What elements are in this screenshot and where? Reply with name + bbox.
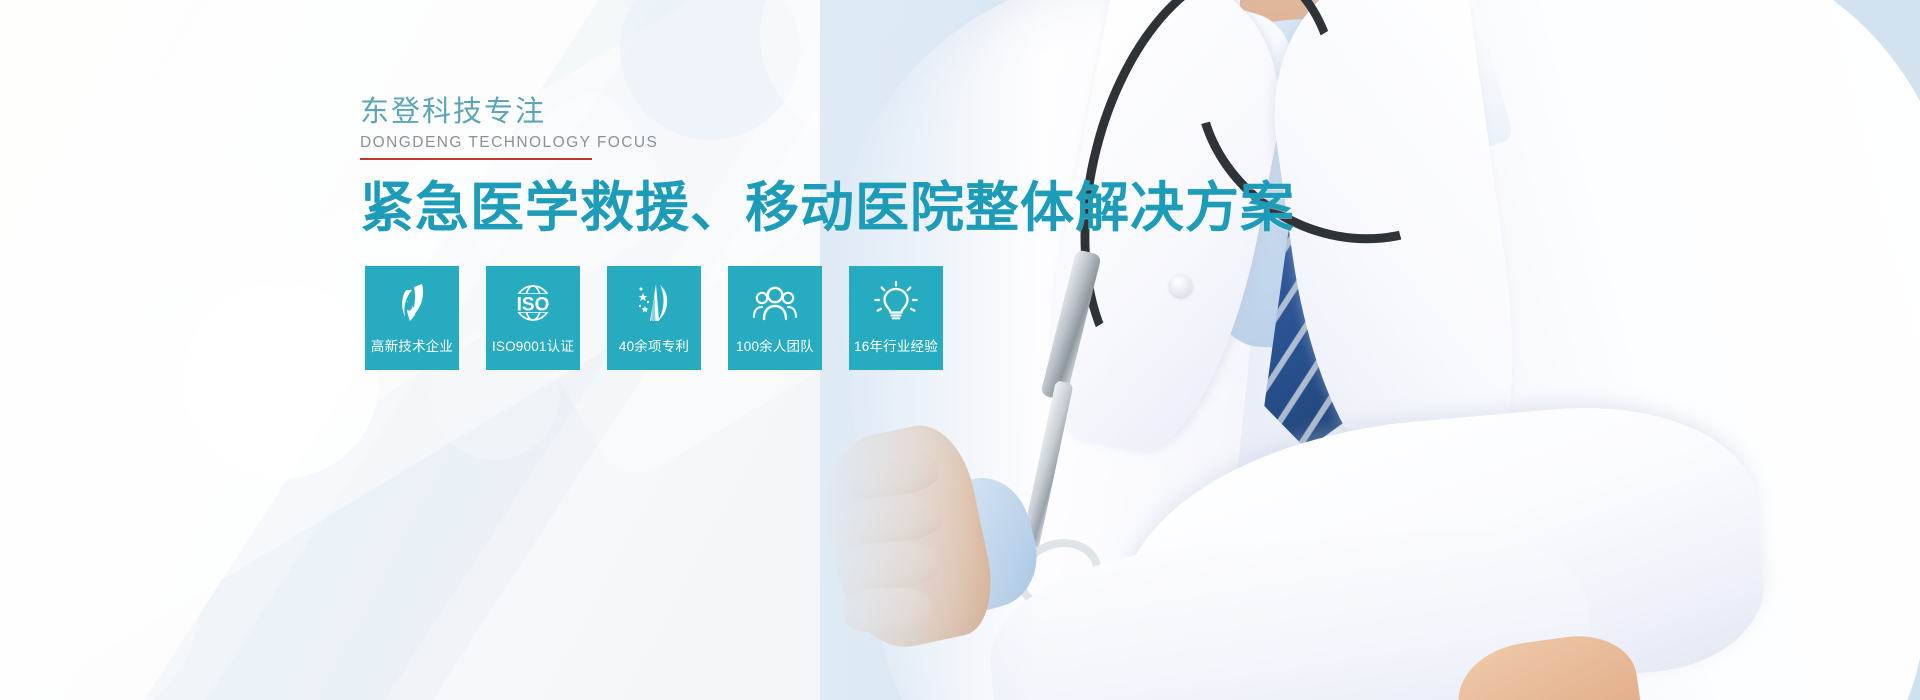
hero-headline: 紧急医学救援、移动医院整体解决方案 [360,178,1295,238]
badge-team-size[interactable]: 100余人团队 [728,266,822,370]
badge-label: 高新技术企业 [371,335,453,355]
eyebrow-chinese: 东登科技专注 [360,96,1295,129]
high-tech-wing-icon [392,280,432,326]
svg-text:ISO: ISO [517,295,550,316]
badge-label: 100余人团队 [736,335,814,355]
red-divider-rule [360,158,592,160]
badge-label: 40余项专利 [619,335,689,355]
lightbulb-icon [874,280,918,326]
hero-banner: 东登科技专注 DONGDENG TECHNOLOGY FOCUS 紧急医学救援、… [0,0,1920,700]
hero-text-block: 东登科技专注 DONGDENG TECHNOLOGY FOCUS 紧急医学救援、… [360,96,1295,239]
badge-label: 16年行业经验 [854,335,938,355]
badge-iso9001[interactable]: ISO ISO9001认证 [486,266,580,370]
badge-patents[interactable]: 40余项专利 [607,266,701,370]
badge-industry-experience[interactable]: 16年行业经验 [849,266,943,370]
badge-label: ISO9001认证 [492,335,574,355]
patent-tower-icon [632,280,676,326]
badge-high-tech-enterprise[interactable]: 高新技术企业 [365,266,459,370]
iso-globe-icon: ISO [510,280,556,326]
eyebrow-english: DONGDENG TECHNOLOGY FOCUS [360,134,1295,152]
team-people-icon [752,280,798,326]
credential-badge-row: 高新技术企业 ISO ISO9001认证 [365,266,943,370]
